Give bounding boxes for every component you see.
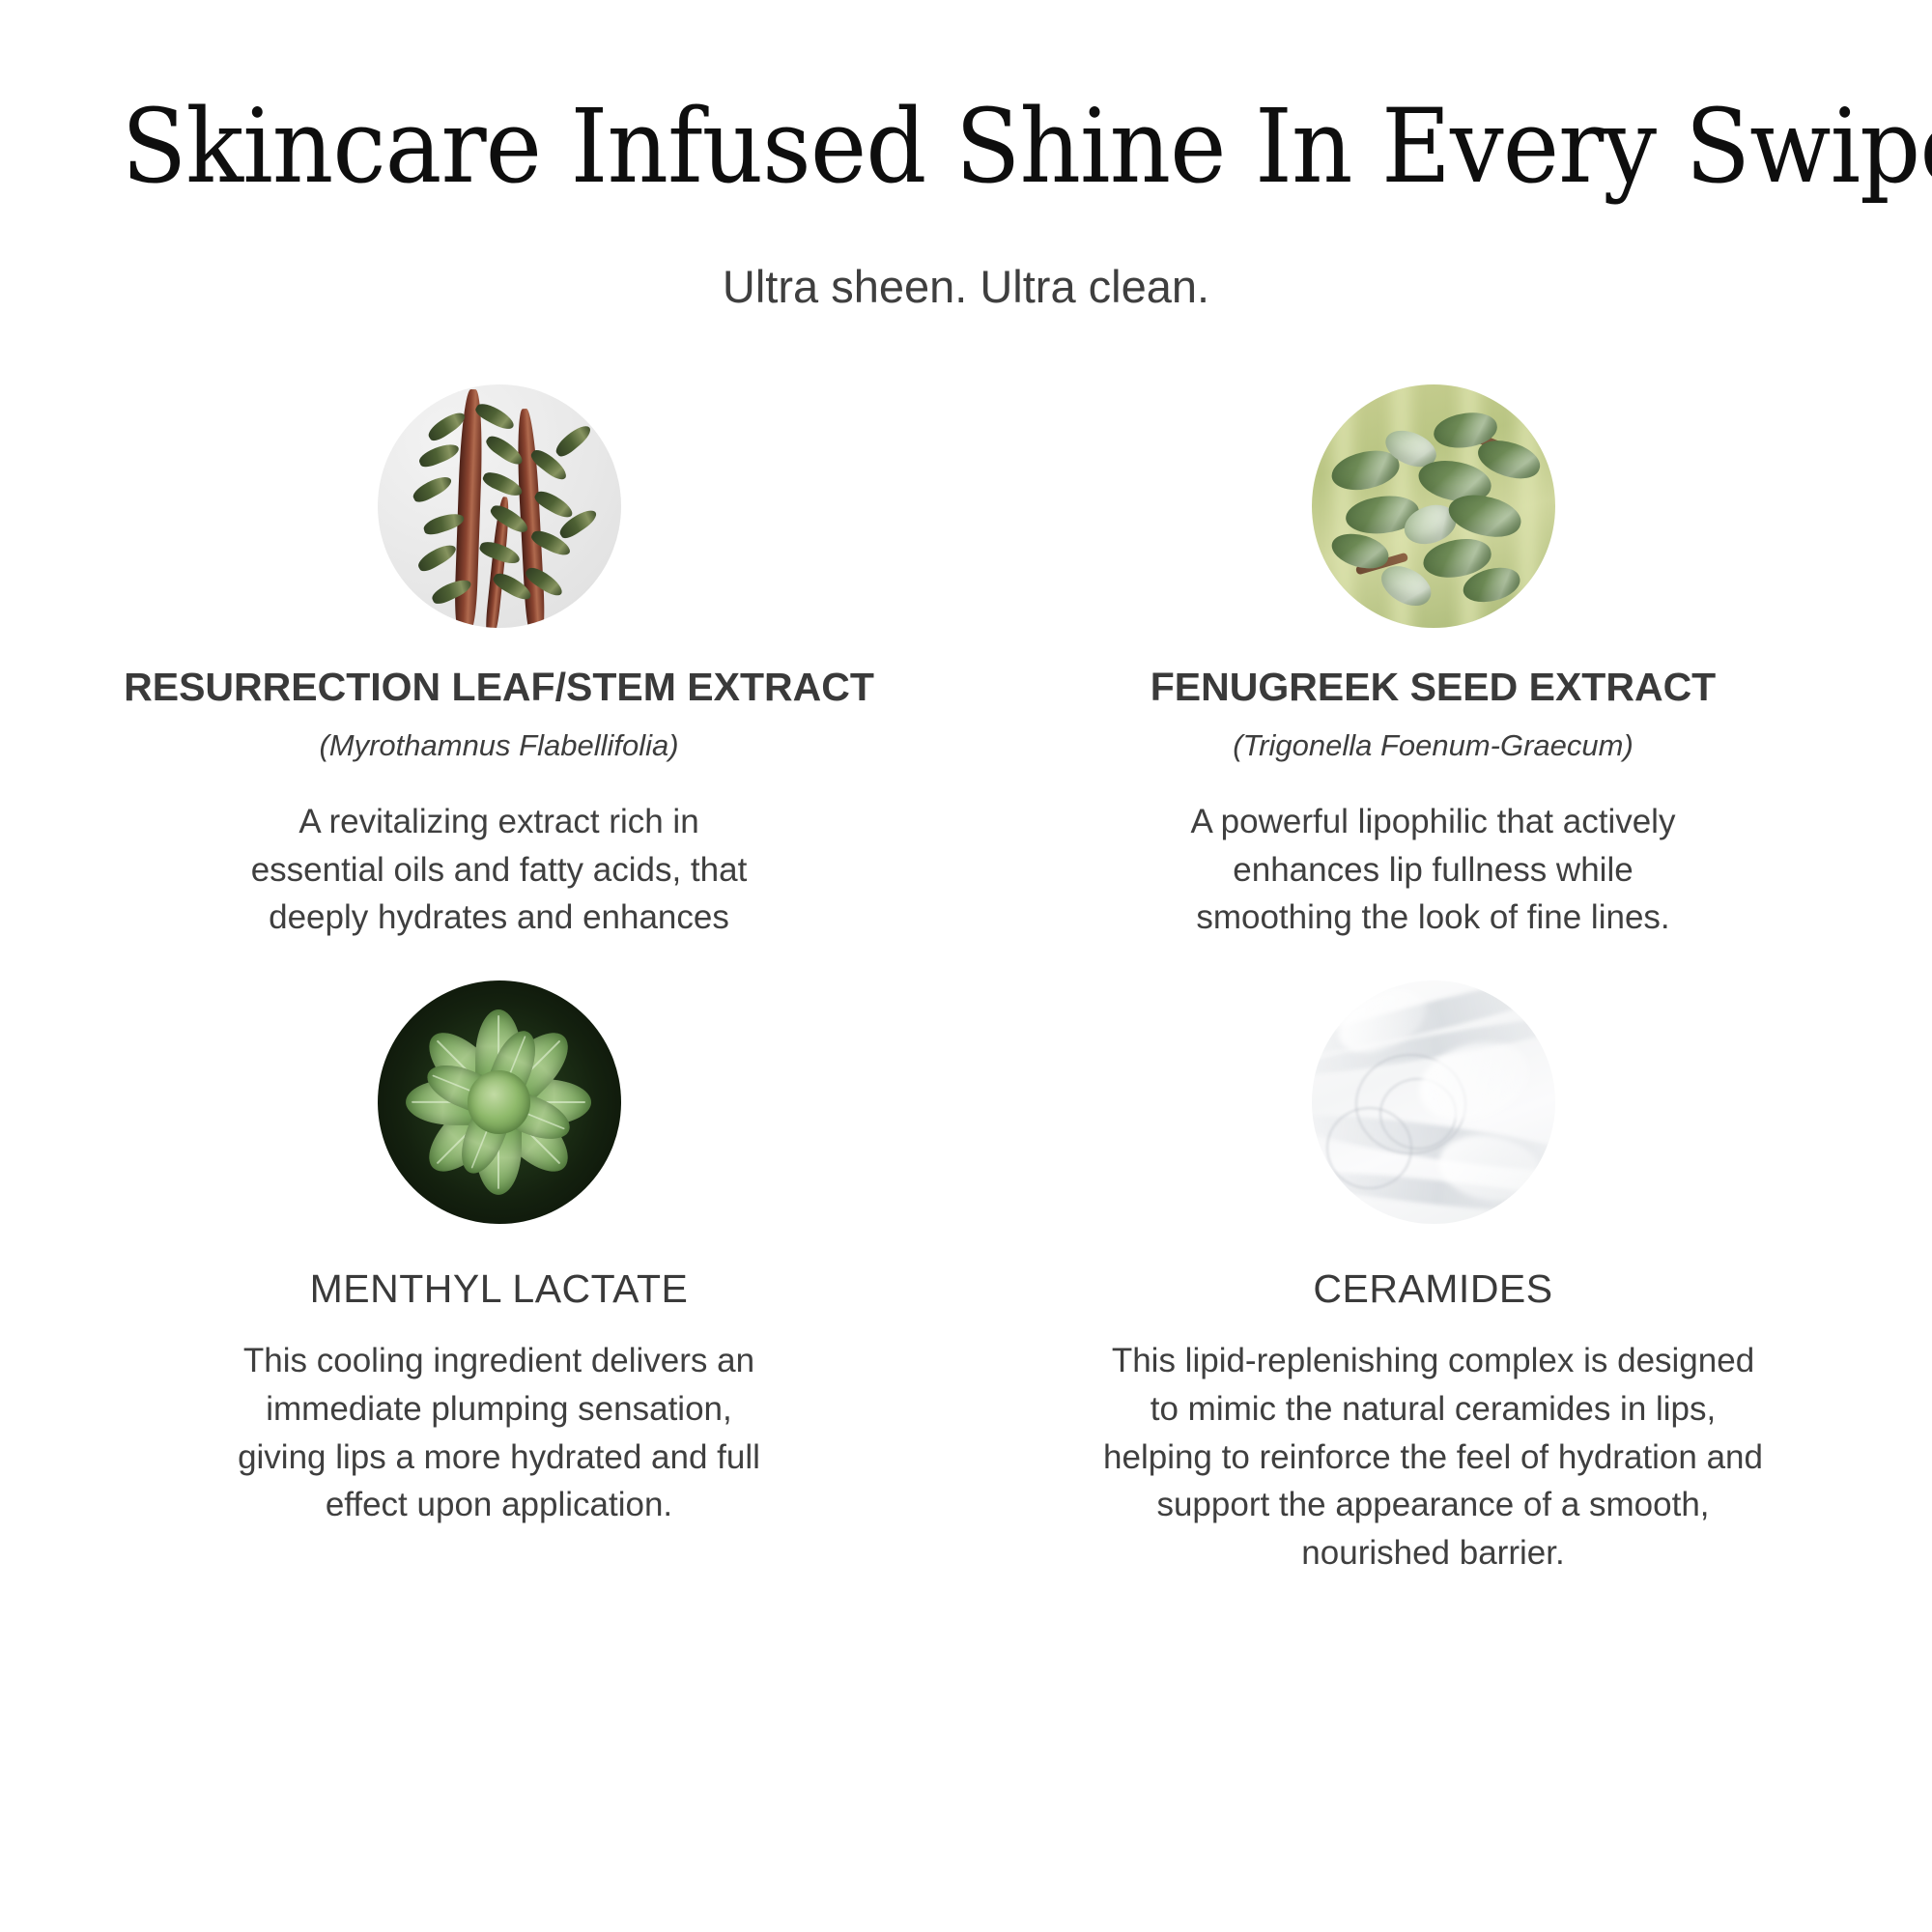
resurrection-plant-image xyxy=(378,384,621,628)
page-title: Skincare Infused Shine In Every Swipe xyxy=(122,93,1810,200)
clear-gel-texture-image xyxy=(1312,980,1555,1224)
ingredient-latin-name: (Trigonella Foenum-Graecum) xyxy=(1233,727,1634,763)
ingredient-infographic-page: Skincare Infused Shine In Every Swipe Ul… xyxy=(0,0,1932,1932)
ingredient-card-fenugreek: FENUGREEK SEED EXTRACT (Trigonella Foenu… xyxy=(992,384,1874,942)
ingredient-card-menthyl-lactate: MENTHYL LACTATE This cooling ingredient … xyxy=(58,980,940,1577)
ingredient-description: A powerful lipophilic that actively enha… xyxy=(1191,798,1676,942)
page-header: Skincare Infused Shine In Every Swipe Ul… xyxy=(58,0,1874,315)
mint-leaves-image xyxy=(378,980,621,1224)
ingredient-description: This cooling ingredient delivers an imme… xyxy=(238,1337,760,1529)
ingredient-card-ceramides: CERAMIDES This lipid-replenishing comple… xyxy=(992,980,1874,1577)
ingredient-latin-name: (Myrothamnus Flabellifolia) xyxy=(319,727,678,763)
ingredient-name: CERAMIDES xyxy=(1313,1266,1552,1312)
ingredient-description: This lipid-replenishing complex is desig… xyxy=(1103,1337,1763,1577)
ingredient-grid: RESURRECTION LEAF/STEM EXTRACT (Myrotham… xyxy=(58,315,1874,1577)
page-subtitle: Ultra sheen. Ultra clean. xyxy=(58,200,1874,314)
ingredient-card-resurrection: RESURRECTION LEAF/STEM EXTRACT (Myrotham… xyxy=(58,384,940,942)
ingredient-description: A revitalizing extract rich in essential… xyxy=(251,798,748,942)
fenugreek-plant-image xyxy=(1312,384,1555,628)
ingredient-name: MENTHYL LACTATE xyxy=(310,1266,689,1312)
ingredient-name: RESURRECTION LEAF/STEM EXTRACT xyxy=(124,665,874,710)
ingredient-name: FENUGREEK SEED EXTRACT xyxy=(1151,665,1716,710)
